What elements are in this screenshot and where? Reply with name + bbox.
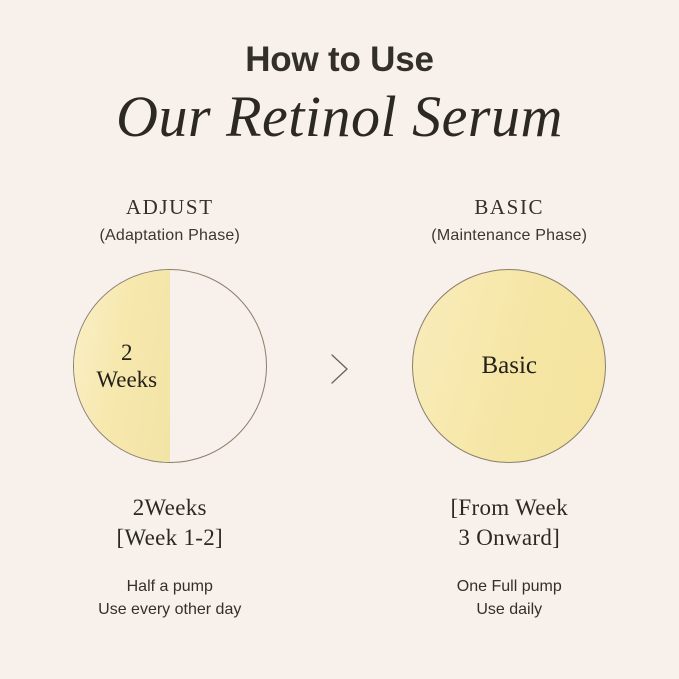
caption-sans-adjust: Half a pump Use every other day <box>98 575 241 621</box>
caption-sans-adjust-line1: Half a pump <box>98 575 241 598</box>
chevron-right-icon <box>328 352 352 386</box>
caption-sans-basic: One Full pump Use daily <box>457 575 562 621</box>
caption-serif-basic-line2: 3 Onward] <box>450 523 568 553</box>
title-line-primary: How to Use <box>0 42 679 79</box>
page-title: How to Use Our Retinol Serum <box>0 42 679 151</box>
caption-serif-basic-line1: [From Week <box>450 493 568 523</box>
phase-columns: ADJUST (Adaptation Phase) 2 Weeks 2Weeks… <box>0 196 679 621</box>
caption-serif-basic: [From Week 3 Onward] <box>450 493 568 553</box>
caption-serif-adjust-line2: [Week 1-2] <box>116 523 223 553</box>
phase-subtitle-basic: (Maintenance Phase) <box>431 227 587 245</box>
title-line-secondary: Our Retinol Serum <box>0 83 679 151</box>
caption-sans-adjust-line2: Use every other day <box>98 598 241 621</box>
phase-name-adjust: ADJUST <box>126 196 214 219</box>
phase-circle-adjust: 2 Weeks <box>73 269 267 463</box>
circle-half-fill <box>74 270 170 462</box>
infographic-page: How to Use Our Retinol Serum ADJUST (Ada… <box>0 0 679 679</box>
caption-sans-basic-line2: Use daily <box>457 598 562 621</box>
phase-subtitle-adjust: (Adaptation Phase) <box>99 227 240 245</box>
caption-serif-adjust: 2Weeks [Week 1-2] <box>116 493 223 553</box>
phase-circle-basic: Basic <box>412 269 606 463</box>
caption-serif-adjust-line1: 2Weeks <box>116 493 223 523</box>
caption-sans-basic-line1: One Full pump <box>457 575 562 598</box>
phase-name-basic: BASIC <box>474 196 544 219</box>
circle-outline-adjust <box>73 269 267 463</box>
phase-column-basic: BASIC (Maintenance Phase) Basic [From We… <box>340 196 679 621</box>
circle-outline-basic <box>412 269 606 463</box>
phase-column-adjust: ADJUST (Adaptation Phase) 2 Weeks 2Weeks… <box>0 196 340 621</box>
